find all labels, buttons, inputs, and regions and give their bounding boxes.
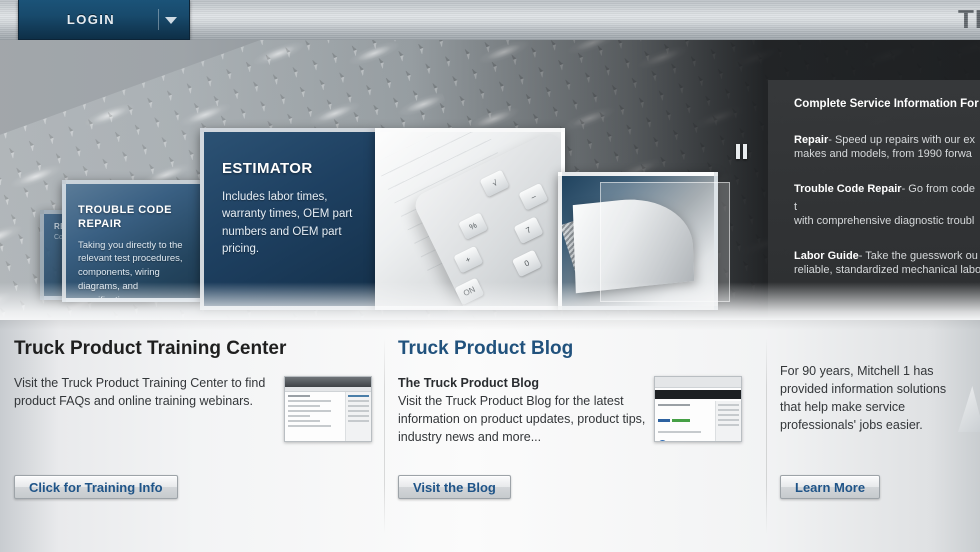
thumb-logobar <box>655 377 741 388</box>
thumb-line <box>348 395 369 397</box>
thumb-line <box>718 404 739 406</box>
thumb-line <box>288 415 310 417</box>
decorative-graphic <box>958 386 980 432</box>
info-item-repair-term: Repair <box>794 134 828 146</box>
thumb-line <box>288 425 331 427</box>
thumb-line <box>348 405 369 407</box>
thumb-titlebar <box>285 377 371 387</box>
slide-card-estimator-title: ESTIMATOR <box>204 132 375 177</box>
thumb-line <box>348 410 369 412</box>
panel-training-center-text: Visit the Truck Product Training Center … <box>0 360 268 410</box>
training-center-thumbnail[interactable] <box>284 376 372 442</box>
hero-slider[interactable]: REP Com info Vehi pro Com for TROUBLE CO… <box>0 40 980 320</box>
info-item-labor-guide-desc: - Take the guesswork ou <box>859 250 978 262</box>
slide-card-estimator-body: Includes labor times, warranty times, OE… <box>204 177 375 258</box>
hero-bottom-fade <box>0 266 980 320</box>
info-panel-heading: Complete Service Information For C <box>794 98 980 110</box>
panel-about-text: For 90 years, Mitchell 1 has provided in… <box>766 320 956 435</box>
thumb-line <box>348 420 369 422</box>
thumb-line <box>348 400 369 402</box>
thumb-line <box>288 395 310 397</box>
info-item-trouble-code-line2: with comprehensive diagnostic troubl <box>794 215 980 227</box>
panel-blog-text: Visit the Truck Product Blog for the lat… <box>398 394 645 444</box>
thumb-line <box>718 424 739 426</box>
learn-more-button[interactable]: Learn More <box>780 475 880 499</box>
panel-blog-text-wrap: The Truck Product Blog Visit the Truck P… <box>384 360 652 447</box>
thumb-line <box>288 405 320 407</box>
info-item-labor-guide-term: Labor Guide <box>794 250 859 262</box>
login-button-label: LOGIN <box>67 12 141 27</box>
info-item-repair: Repair- Speed up repairs with our ex mak… <box>794 130 980 160</box>
panel-about-mitchell1: For 90 years, Mitchell 1 has provided in… <box>766 320 980 552</box>
brand-wordmark: TH <box>958 4 980 35</box>
chevron-down-icon[interactable] <box>165 17 177 24</box>
thumb-line <box>658 431 701 433</box>
thumb-line <box>288 410 331 412</box>
panel-training-center-title: Truck Product Training Center <box>0 320 384 360</box>
site-header: LOGIN TH <box>0 0 980 40</box>
panel-truck-product-blog: Truck Product Blog The Truck Product Blo… <box>384 320 766 552</box>
panel-blog-title: Truck Product Blog <box>384 320 766 360</box>
panel-training-center: Truck Product Training Center Visit the … <box>0 320 384 552</box>
thumb-line <box>658 404 690 406</box>
blog-thumbnail[interactable] <box>654 376 742 442</box>
visit-blog-button[interactable]: Visit the Blog <box>398 475 511 499</box>
thumb-line <box>718 419 739 421</box>
login-divider <box>158 9 159 30</box>
slide-card-trouble-title: TROUBLE CODE REPAIR <box>66 184 200 232</box>
thumb-avatar-icon <box>658 440 667 442</box>
thumb-line <box>718 414 739 416</box>
promo-section: Truck Product Training Center Visit the … <box>0 320 980 552</box>
thumb-line <box>348 415 369 417</box>
thumb-tag <box>672 419 690 422</box>
info-item-repair-line2: makes and models, from 1990 forwa <box>794 148 980 160</box>
thumb-header-block <box>655 390 741 399</box>
info-item-trouble-code-term: Trouble Code Repair <box>794 183 902 195</box>
thumb-tag <box>658 419 670 422</box>
thumb-line <box>718 409 739 411</box>
login-button[interactable]: LOGIN <box>18 0 190 40</box>
training-info-button[interactable]: Click for Training Info <box>14 475 178 499</box>
pause-icon[interactable] <box>730 140 752 162</box>
thumb-line <box>288 420 320 422</box>
thumb-line <box>288 400 331 402</box>
panel-blog-lead: The Truck Product Blog <box>398 374 652 392</box>
info-item-repair-desc: - Speed up repairs with our ex <box>828 134 975 146</box>
info-item-trouble-code: Trouble Code Repair- Go from code t with… <box>794 179 980 227</box>
